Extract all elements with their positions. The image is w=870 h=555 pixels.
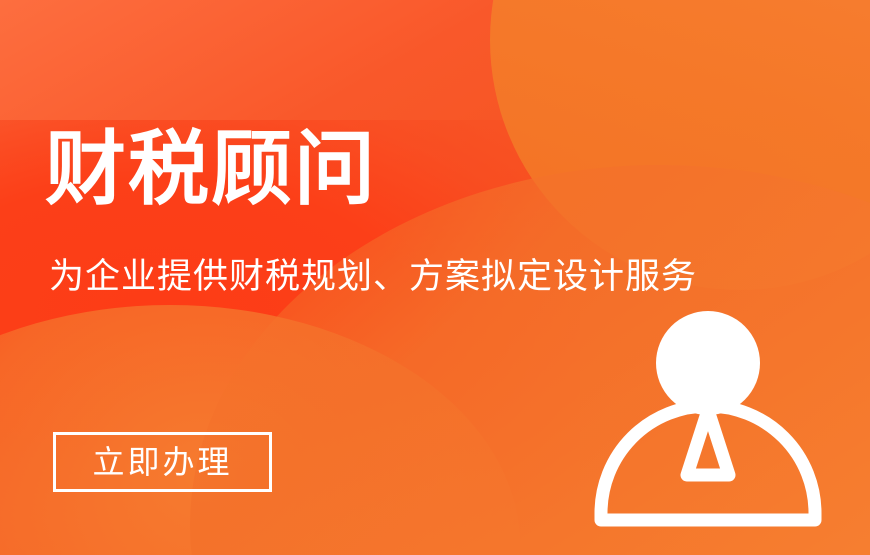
banner-content: 财税顾问 为企业提供财税规划、方案拟定设计服务 立即办理 (0, 0, 870, 555)
person-necktie-icon (687, 410, 729, 475)
promo-banner: 财税顾问 为企业提供财税规划、方案拟定设计服务 立即办理 (0, 0, 870, 555)
banner-headline: 财税顾问 (45, 128, 377, 213)
advisor-person-icon-svg (590, 300, 835, 540)
person-head-icon (656, 311, 760, 415)
advisor-person-icon (590, 300, 835, 540)
banner-subheadline: 为企业提供财税规划、方案拟定设计服务 (49, 254, 697, 300)
apply-now-button[interactable]: 立即办理 (53, 432, 272, 492)
